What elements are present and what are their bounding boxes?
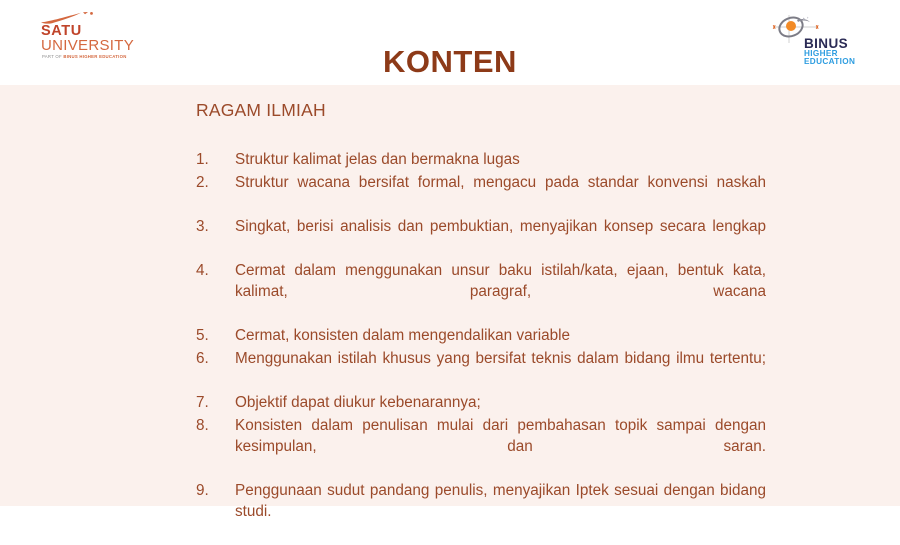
list-item: 2.Struktur wacana bersifat formal, menga…: [196, 172, 766, 214]
list-item: 1.Struktur kalimat jelas dan bermakna lu…: [196, 149, 766, 170]
list-item-number: 2.: [196, 172, 226, 193]
list-item-text: Singkat, berisi analisis dan pembuktian,…: [235, 216, 766, 258]
list-item-text: Struktur kalimat jelas dan bermakna luga…: [235, 149, 766, 170]
list-item-number: 6.: [196, 348, 226, 369]
list-item-text: Struktur wacana bersifat formal, mengacu…: [235, 172, 766, 214]
section-subtitle: RAGAM ILMIAH: [196, 100, 326, 121]
page-title: KONTEN: [0, 46, 900, 77]
list-item-text: Cermat dalam menggunakan unsur baku isti…: [235, 260, 766, 323]
list-item-number: 4.: [196, 260, 226, 281]
list-item-text: Cermat, konsisten dalam mengendalikan va…: [235, 325, 766, 346]
list-item: 7.Objektif dapat diukur kebenarannya;: [196, 392, 766, 413]
list-item-number: 8.: [196, 415, 226, 436]
slide-canvas: SATU UNIVERSITY PART OF BINUS HIGHER EDU…: [0, 0, 900, 506]
list-item-number: 7.: [196, 392, 226, 413]
list-item-number: 3.: [196, 216, 226, 237]
list-item: 6.Menggunakan istilah khusus yang bersif…: [196, 348, 766, 390]
list-item-number: 1.: [196, 149, 226, 170]
list-item: 8.Konsisten dalam penulisan mulai dari p…: [196, 415, 766, 478]
list-item: 5.Cermat, konsisten dalam mengendalikan …: [196, 325, 766, 346]
list-item-text: Objektif dapat diukur kebenarannya;: [235, 392, 766, 413]
list-item-text: Konsisten dalam penulisan mulai dari pem…: [235, 415, 766, 478]
list-item-number: 5.: [196, 325, 226, 346]
numbered-list: 1.Struktur kalimat jelas dan bermakna lu…: [196, 149, 766, 545]
list-item-number: 9.: [196, 480, 226, 501]
list-item-text: Penggunaan sudut pandang penulis, menyaj…: [235, 480, 766, 543]
list-item: 3.Singkat, berisi analisis dan pembuktia…: [196, 216, 766, 258]
list-item: 4.Cermat dalam menggunakan unsur baku is…: [196, 260, 766, 323]
list-item-text: Menggunakan istilah khusus yang bersifat…: [235, 348, 766, 390]
list-item: 9.Penggunaan sudut pandang penulis, meny…: [196, 480, 766, 543]
